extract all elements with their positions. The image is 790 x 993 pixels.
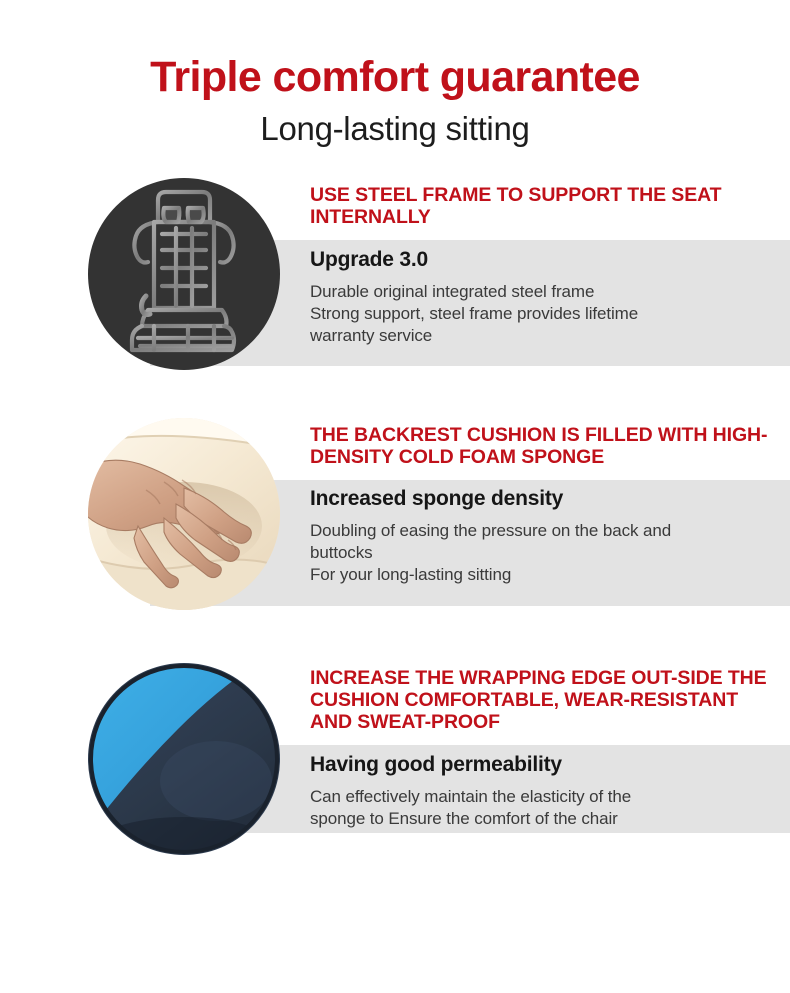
feature-body-line: Durable original integrated steel frame: [310, 281, 774, 303]
foam-sponge-photo: [88, 418, 280, 610]
feature-item: INCREASE THE WRAPPING EDGE OUT-SIDE THE …: [0, 663, 790, 911]
feature-red-title: INCREASE THE WRAPPING EDGE OUT-SIDE THE …: [310, 667, 774, 733]
feature-sub-title: Increased sponge density: [310, 486, 774, 511]
foam-hand-illustration: [88, 418, 280, 610]
feature-item: USE STEEL FRAME TO SUPPORT THE SEAT INTE…: [0, 178, 790, 418]
page-title: Triple comfort guarantee: [0, 56, 790, 100]
feature-text-block: USE STEEL FRAME TO SUPPORT THE SEAT INTE…: [310, 184, 774, 347]
feature-body-line: For your long-lasting sitting: [310, 564, 774, 586]
feature-body-line: buttocks: [310, 542, 774, 564]
steel-frame-photo: [88, 178, 280, 370]
feature-body-line: Doubling of easing the pressure on the b…: [310, 520, 774, 542]
page-header: Triple comfort guarantee Long-lasting si…: [0, 0, 790, 147]
steel-frame-illustration: [88, 178, 280, 370]
feature-list: USE STEEL FRAME TO SUPPORT THE SEAT INTE…: [0, 178, 790, 911]
feature-red-title: THE BACKREST CUSHION IS FILLED WITH HIGH…: [310, 424, 774, 468]
feature-red-title: USE STEEL FRAME TO SUPPORT THE SEAT INTE…: [310, 184, 774, 228]
feature-item: THE BACKREST CUSHION IS FILLED WITH HIGH…: [0, 418, 790, 663]
feature-body-line: sponge to Ensure the comfort of the chai…: [310, 808, 774, 830]
feature-body-line: Can effectively maintain the elasticity …: [310, 786, 774, 808]
feature-sub-title: Upgrade 3.0: [310, 247, 774, 272]
feature-text-block: THE BACKREST CUSHION IS FILLED WITH HIGH…: [310, 424, 774, 586]
cushion-edge-photo: [88, 663, 280, 855]
feature-body-line: Strong support, steel frame provides lif…: [310, 303, 774, 325]
feature-sub-title: Having good permeability: [310, 752, 774, 777]
cushion-disc-illustration: [88, 663, 280, 855]
page-subtitle: Long-lasting sitting: [0, 112, 790, 147]
feature-text-block: INCREASE THE WRAPPING EDGE OUT-SIDE THE …: [310, 667, 774, 830]
feature-body-line: warranty service: [310, 325, 774, 347]
